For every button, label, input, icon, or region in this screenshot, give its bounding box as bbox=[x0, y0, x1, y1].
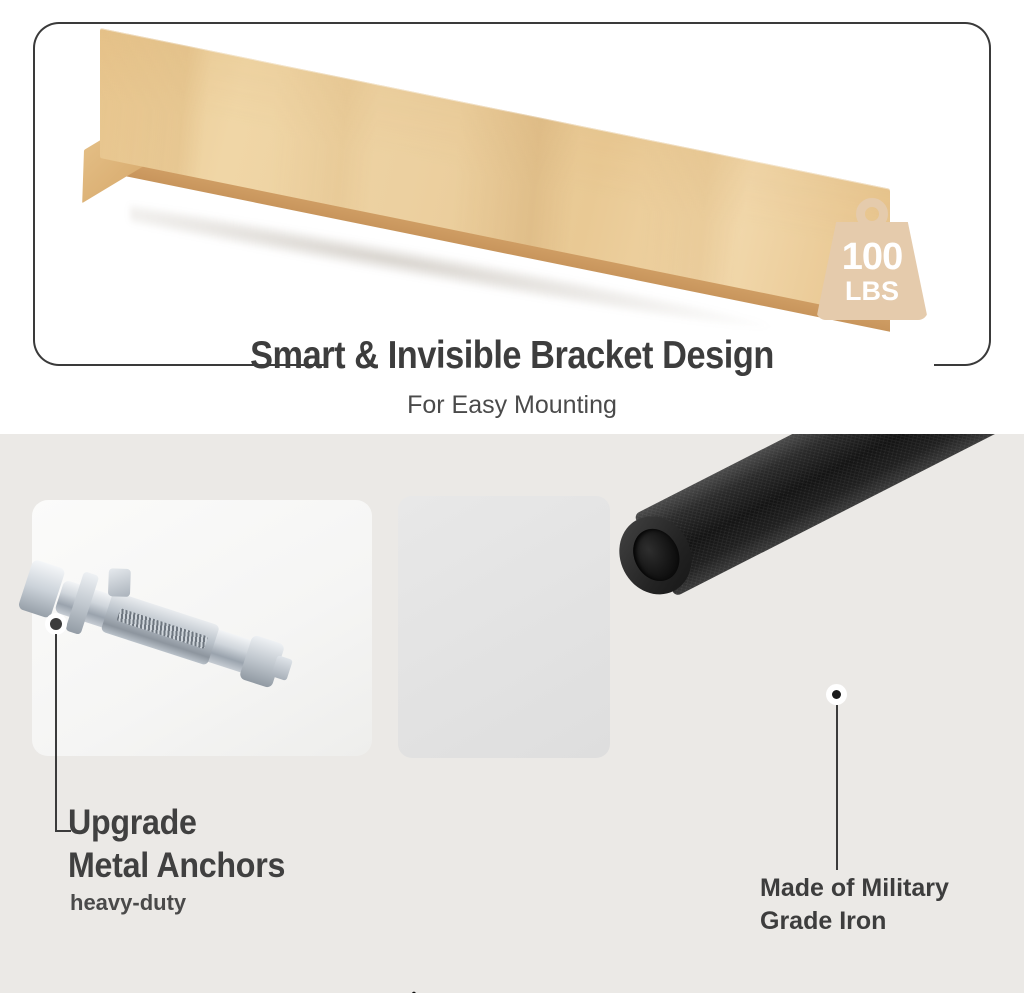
callout-leader-line-vertical bbox=[55, 634, 57, 832]
pipe-texture bbox=[634, 434, 1024, 597]
top-section-subtitle: For Easy Mounting bbox=[0, 391, 1024, 420]
metal-anchors-heading-line1: Upgrade bbox=[68, 802, 464, 845]
iron-pipe-image bbox=[598, 434, 1024, 619]
weight-badge-text: 100 LBS bbox=[816, 238, 928, 305]
callout-leader-line-iron bbox=[836, 705, 838, 870]
iron-heading-line2: Grade Iron bbox=[760, 905, 1010, 938]
metal-anchors-subtext: heavy-duty bbox=[70, 890, 186, 916]
metal-anchors-heading: Upgrade Metal Anchors bbox=[68, 802, 464, 887]
iron-heading-line1: Made of Military bbox=[760, 872, 1010, 905]
weight-badge-number: 100 bbox=[816, 238, 928, 276]
floating-shelf-image bbox=[70, 20, 910, 330]
weight-badge-unit: LBS bbox=[816, 278, 928, 305]
bottom-feature-panel: VS Upgrade Metal Anchors heavy-duty Made… bbox=[0, 434, 1024, 993]
callout-dot-iron-pipe bbox=[826, 684, 847, 705]
weight-capacity-badge: 100 LBS bbox=[816, 198, 928, 320]
metal-anchors-heading-line2: Metal Anchors bbox=[68, 845, 464, 888]
product-infographic-page: 100 LBS Smart & Invisible Bracket Design… bbox=[0, 0, 1024, 993]
top-section-title: Smart & Invisible Bracket Design bbox=[61, 334, 962, 378]
plastic-anchor-card bbox=[398, 496, 610, 758]
military-grade-iron-heading: Made of Military Grade Iron bbox=[760, 872, 1010, 938]
anchor-wing bbox=[108, 568, 131, 597]
callout-dot-metal-anchors bbox=[45, 613, 67, 635]
top-feature-panel: 100 LBS Smart & Invisible Bracket Design… bbox=[0, 0, 1024, 434]
